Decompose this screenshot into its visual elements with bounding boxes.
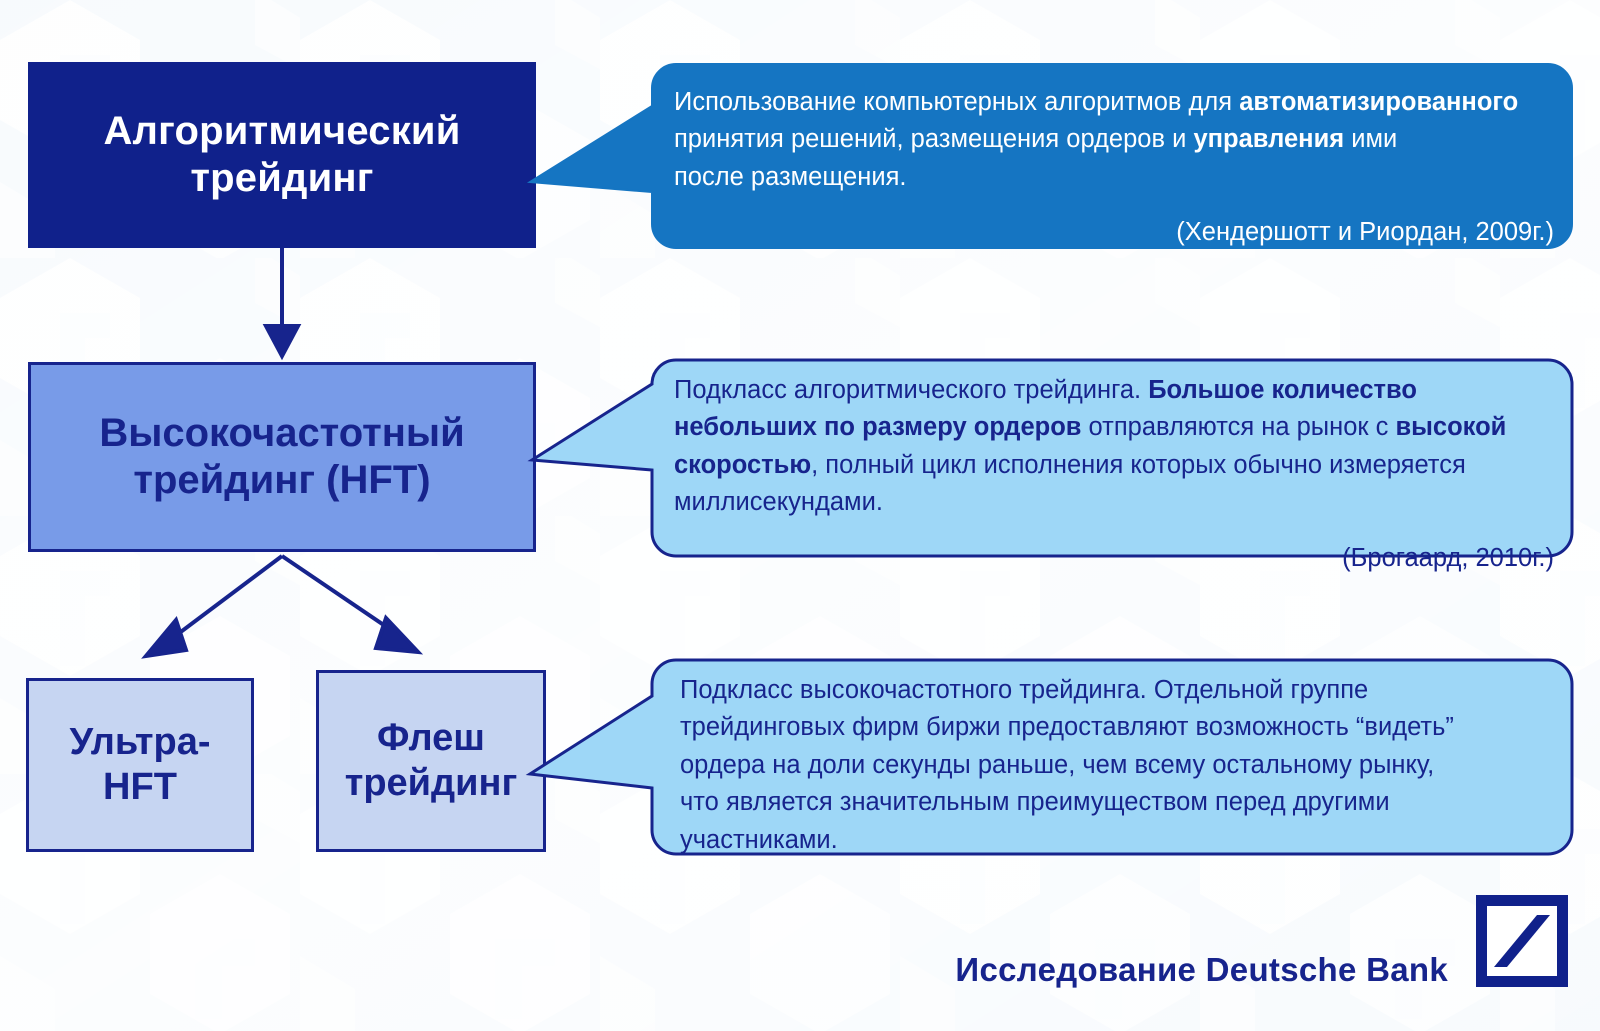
node-algorithmic-trading[interactable]: Алгоритмический трейдинг: [28, 62, 536, 248]
callout-3-line-2: трейдинговых фирм биржи предоставляют во…: [680, 709, 1560, 746]
callout-2-source: (Брогаард, 2010г.): [674, 540, 1554, 577]
arrowhead-hft-to-ultra: [146, 620, 186, 656]
arrowhead-algo-to-hft: [266, 326, 298, 356]
callout-1-line-2: принятия решений, размещения ордеров и у…: [674, 121, 1554, 158]
callout-1-body: Использование компьютерных алгоритмов дл…: [674, 84, 1554, 252]
callout-3-line-3: ордера на доли секунды раньше, чем всему…: [680, 747, 1560, 784]
callout-2-line-1: Подкласс алгоритмического трейдинга. Бол…: [674, 372, 1554, 409]
callout-3-line-5: участниками.: [680, 822, 1560, 859]
callout-1-line-1: Использование компьютерных алгоритмов дл…: [674, 84, 1554, 121]
callout-2-line-2: небольших по размеру ордеров отправляютс…: [674, 409, 1554, 446]
callout-3-line-1: Подкласс высокочастотного трейдинга. Отд…: [680, 672, 1560, 709]
node-flash-trading[interactable]: Флеш трейдинг: [316, 670, 546, 852]
connector-hft-to-flash: [282, 556, 400, 636]
connector-hft-to-ultra: [170, 556, 282, 640]
node-ultra-hft[interactable]: Ультра- HFT: [26, 678, 254, 852]
callout-1-line-3: после размещения.: [674, 159, 1554, 196]
callout-flash-trading: Подкласс высокочастотного трейдинга. Отд…: [652, 660, 1572, 854]
footer-research-label: Исследование Deutsche Bank: [955, 951, 1448, 989]
arrowhead-hft-to-flash: [376, 618, 418, 652]
node-high-frequency-trading[interactable]: Высокочастотный трейдинг (HFT): [28, 362, 536, 552]
callout-2-line-3: скоростью, полный цикл исполнения которы…: [674, 447, 1554, 484]
callout-2-line-4: миллисекундами.: [674, 484, 1554, 521]
callout-algorithmic-trading: Использование компьютерных алгоритмов дл…: [652, 64, 1572, 248]
callout-high-frequency-trading: Подкласс алгоритмического трейдинга. Бол…: [652, 360, 1572, 556]
callout-3-line-4: что является значительным преимуществом …: [680, 784, 1560, 821]
infographic-canvas: Алгоритмический трейдинг Высокочастотный…: [0, 0, 1600, 1031]
callout-3-body: Подкласс высокочастотного трейдинга. Отд…: [680, 672, 1560, 859]
callout-2-body: Подкласс алгоритмического трейдинга. Бол…: [674, 372, 1554, 577]
callout-1-source: (Хендершотт и Риордан, 2009г.): [674, 214, 1554, 251]
deutsche-bank-logo: [1474, 893, 1570, 989]
